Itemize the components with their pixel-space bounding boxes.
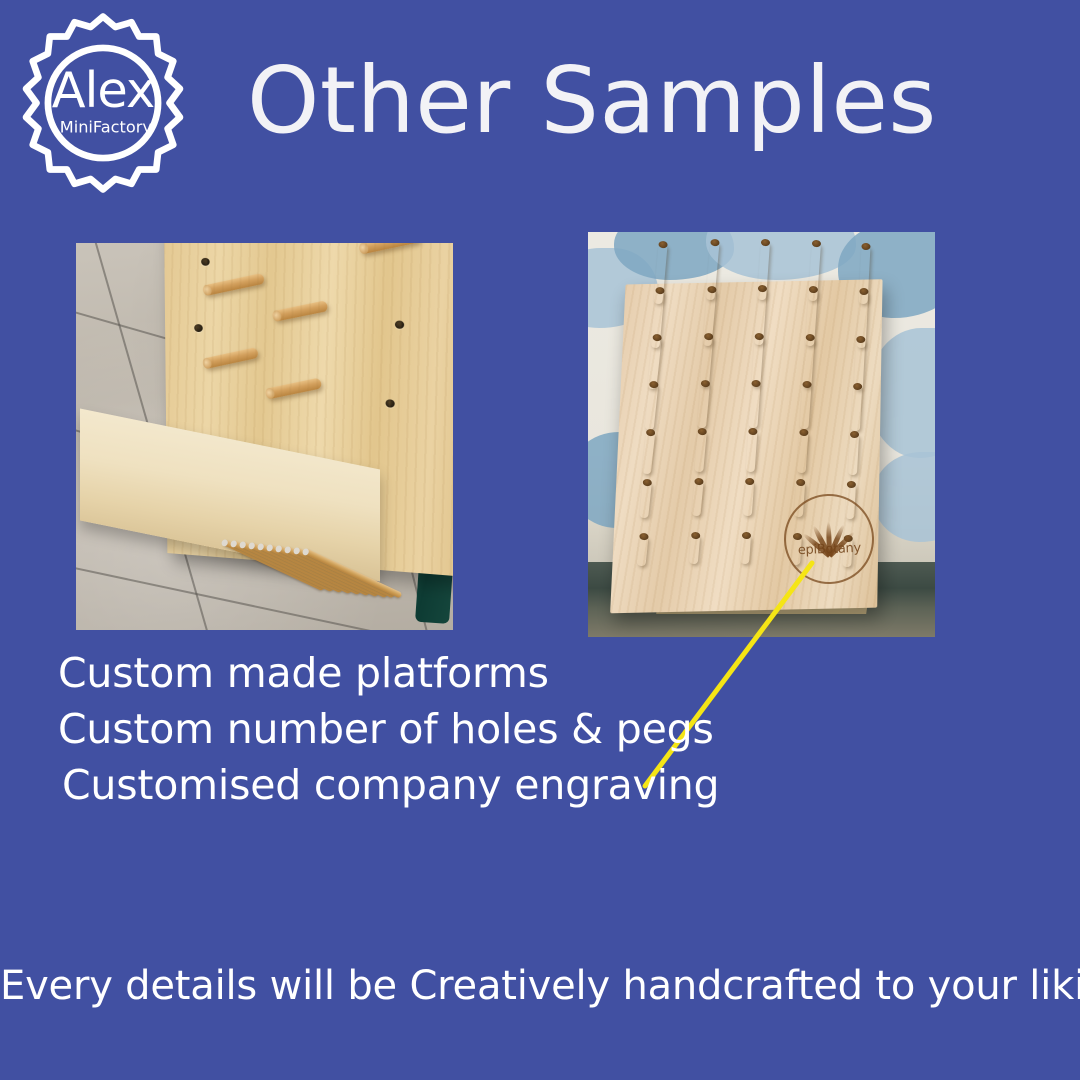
page-title: Other Samples bbox=[247, 53, 937, 150]
feature-item: Customised company engraving bbox=[58, 757, 719, 813]
peg bbox=[359, 243, 421, 255]
peg-hole bbox=[385, 399, 394, 408]
peg-hole bbox=[395, 320, 404, 328]
peg bbox=[265, 377, 322, 399]
feature-item: Custom number of holes & pegs bbox=[58, 701, 719, 757]
logo-brand-secondary: MiniFactory bbox=[60, 117, 153, 136]
gear-icon: Alex MiniFactory bbox=[8, 8, 198, 198]
peg bbox=[272, 300, 328, 322]
peg-hole bbox=[201, 258, 210, 266]
photo-right: epiBotany bbox=[588, 232, 935, 637]
photo-left bbox=[76, 243, 453, 630]
peg bbox=[203, 273, 265, 296]
logo-brand-primary: Alex bbox=[52, 61, 154, 119]
brand-logo: Alex MiniFactory bbox=[8, 8, 198, 198]
engraving-label: epiBotany bbox=[786, 540, 872, 558]
poster-canvas: Alex MiniFactory Other Samples bbox=[0, 0, 1080, 1080]
tagline: Every details will be Creatively handcra… bbox=[0, 963, 1080, 1009]
peg bbox=[203, 347, 260, 369]
feature-list: Custom made platforms Custom number of h… bbox=[58, 645, 719, 813]
feature-item: Custom made platforms bbox=[58, 645, 719, 701]
peg-hole bbox=[194, 324, 203, 332]
